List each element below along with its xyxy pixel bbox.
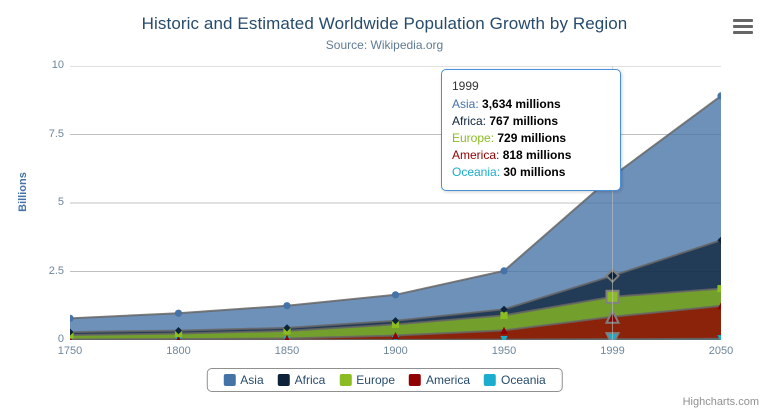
- point-marker-asia-1800[interactable]: [175, 310, 182, 317]
- x-tick-label-1999: 1999: [583, 345, 643, 357]
- y-tick-label: 7.5: [18, 128, 64, 140]
- legend-item-oceania[interactable]: Oceania: [484, 373, 546, 387]
- legend-label: Europe: [356, 373, 395, 387]
- legend-label: Asia: [240, 373, 263, 387]
- x-tick-label-2050: 2050: [691, 345, 751, 357]
- credits-label[interactable]: Highcharts.com: [683, 396, 759, 408]
- hamburger-bar: [733, 31, 753, 34]
- legend-swatch-europe: [339, 374, 351, 386]
- x-tick-label-1800: 1800: [149, 345, 209, 357]
- x-tick-label-1950: 1950: [474, 345, 534, 357]
- y-axis-title: Billions: [17, 157, 29, 227]
- legend-item-america[interactable]: America: [409, 373, 470, 387]
- legend-label: America: [426, 373, 470, 387]
- legend-label: Africa: [295, 373, 326, 387]
- y-tick-label: 5: [18, 196, 64, 208]
- point-marker-asia-1850[interactable]: [283, 302, 290, 309]
- hamburger-bar: [733, 25, 753, 28]
- x-tick-label-1750: 1750: [40, 345, 100, 357]
- highcharts-container: Historic and Estimated Worldwide Populat…: [0, 0, 769, 416]
- chart-title: Historic and Estimated Worldwide Populat…: [0, 14, 769, 34]
- y-tick-label: 10: [18, 59, 64, 71]
- chart-plot-svg: [70, 66, 721, 340]
- x-tick-label-1850: 1850: [257, 345, 317, 357]
- legend-swatch-america: [409, 374, 421, 386]
- hamburger-bar: [733, 19, 753, 22]
- point-marker-asia-1900[interactable]: [392, 291, 399, 298]
- x-tick-label-1900: 1900: [366, 345, 426, 357]
- legend-swatch-africa: [278, 374, 290, 386]
- legend-item-asia[interactable]: Asia: [223, 373, 263, 387]
- plot-area: [70, 66, 721, 340]
- legend-label: Oceania: [501, 373, 546, 387]
- point-marker-europe-2050[interactable]: [717, 285, 721, 292]
- point-marker-asia-1950[interactable]: [500, 267, 507, 274]
- chart-subtitle: Source: Wikipedia.org: [0, 38, 769, 52]
- legend-swatch-oceania: [484, 374, 496, 386]
- legend-swatch-asia: [223, 374, 235, 386]
- legend-item-africa[interactable]: Africa: [278, 373, 326, 387]
- y-tick-label: 2.5: [18, 265, 64, 277]
- x-axis: 1750180018501900195019992050: [70, 345, 721, 363]
- y-tick-label: 0: [18, 333, 64, 345]
- legend-item-europe[interactable]: Europe: [339, 373, 395, 387]
- hamburger-menu-icon[interactable]: [731, 17, 755, 37]
- chart-legend: AsiaAfricaEuropeAmericaOceania: [206, 368, 562, 392]
